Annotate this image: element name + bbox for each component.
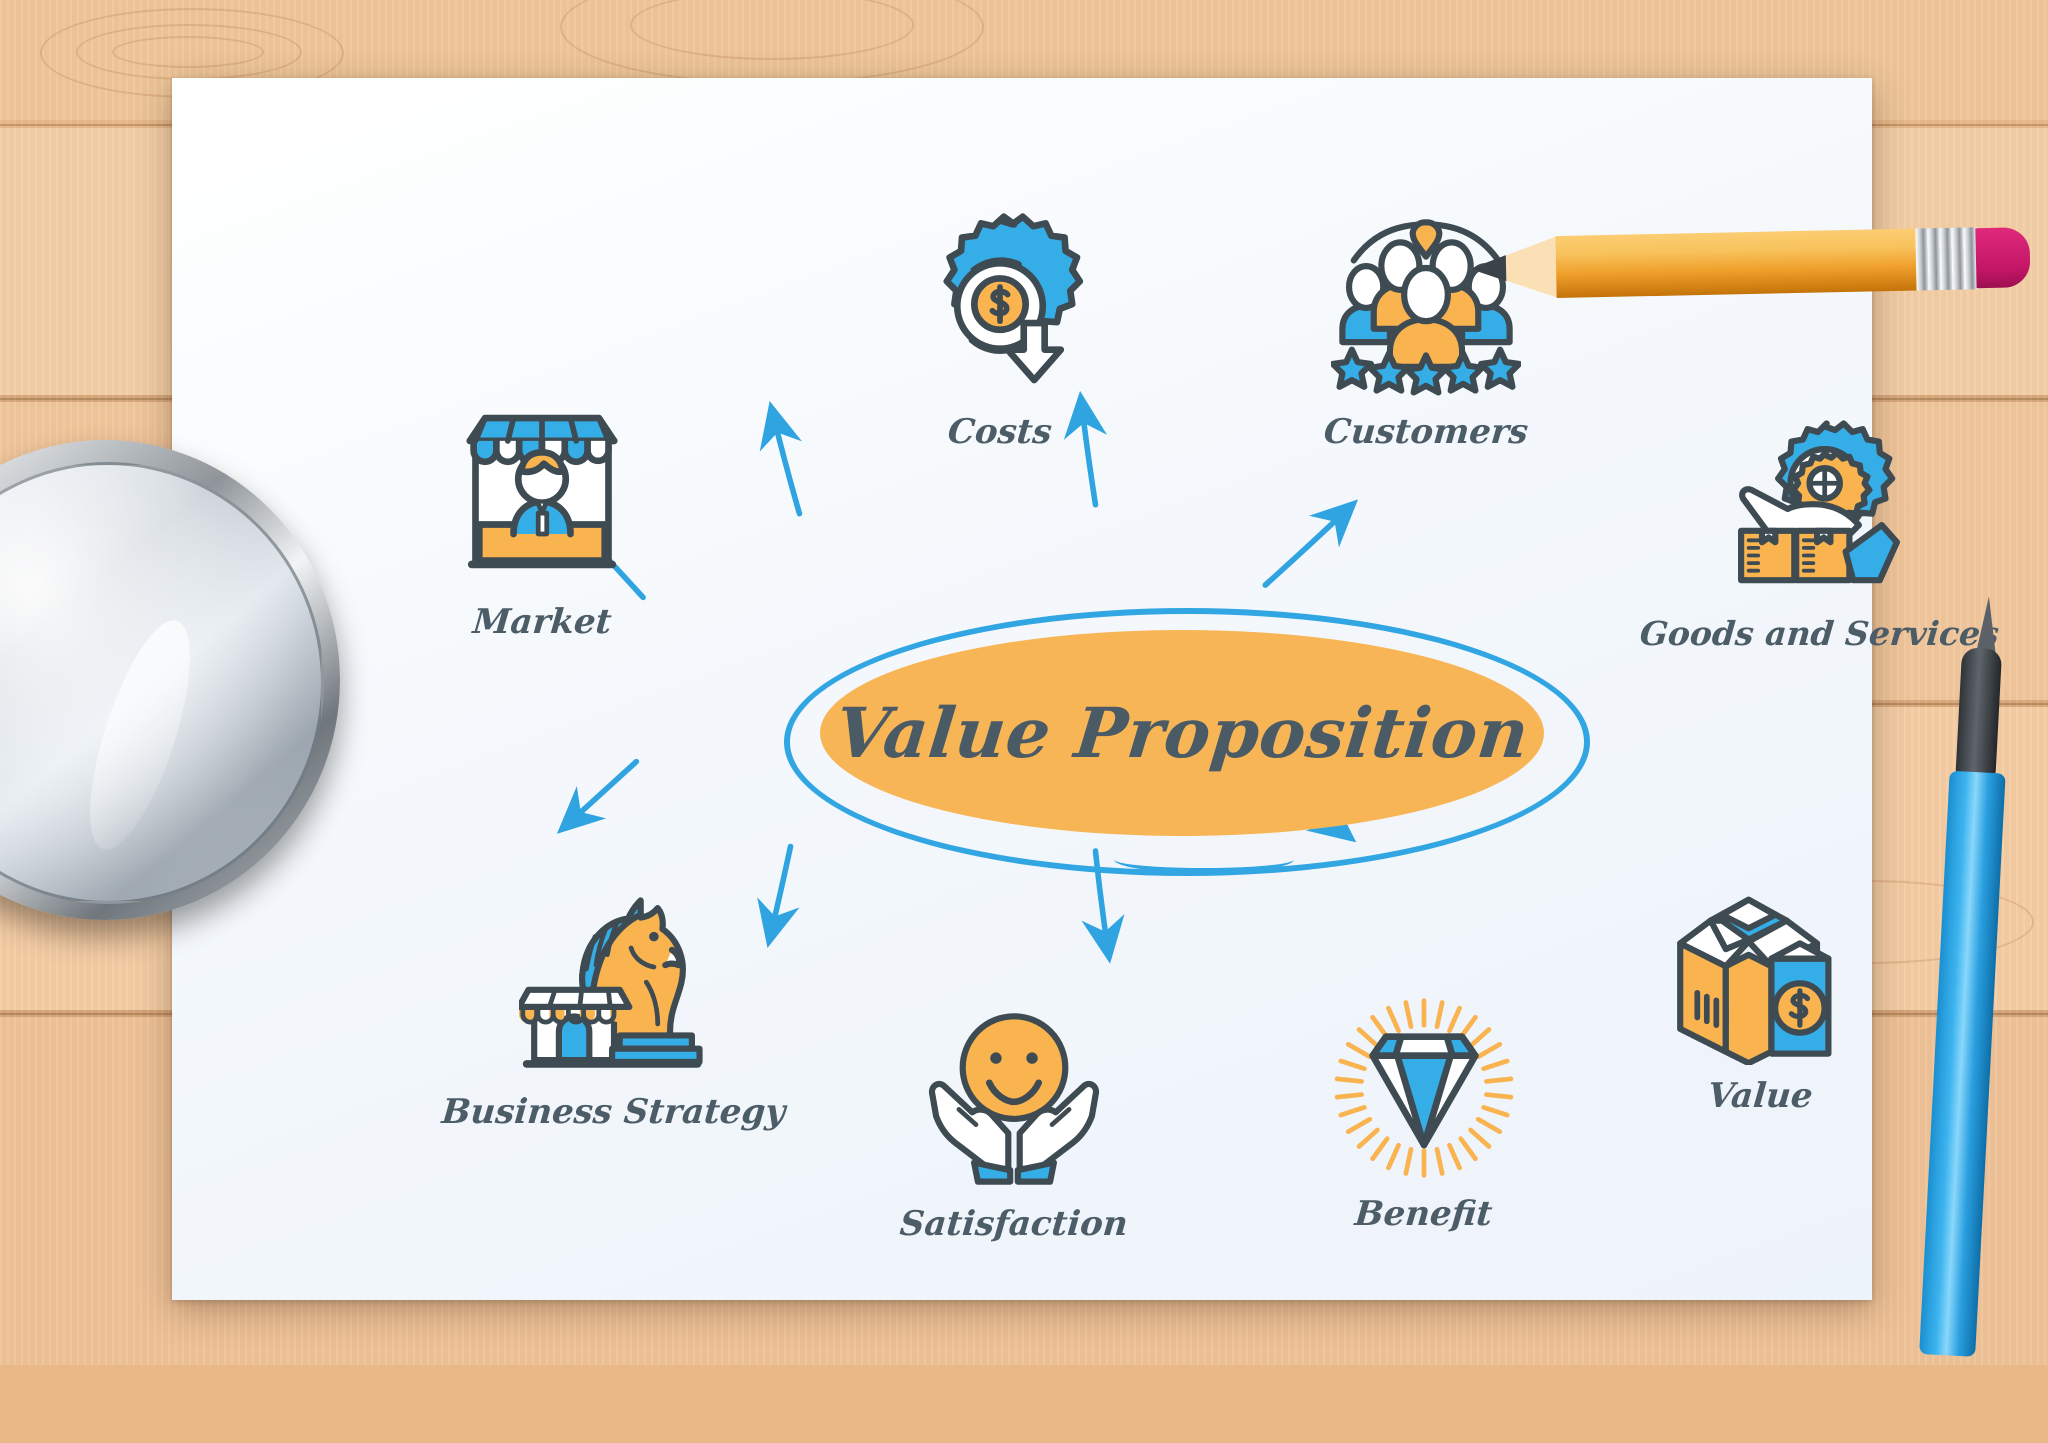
node-label-customers: Customers bbox=[1322, 412, 1529, 452]
node-label-market: Market bbox=[471, 602, 613, 642]
hand-gear-boxes-icon bbox=[1719, 408, 1919, 608]
node-label-satisfaction: Satisfaction bbox=[898, 1204, 1129, 1244]
node-label-value: Value bbox=[1706, 1076, 1814, 1116]
node-label-goods-and-services: Goods and Services bbox=[1638, 614, 2000, 653]
node-label-benefit: Benefit bbox=[1354, 1194, 1495, 1234]
ellipse-fill: Value Proposition bbox=[820, 630, 1544, 836]
chess-knight-shop-icon bbox=[514, 886, 714, 1086]
shining-diamond-icon bbox=[1324, 988, 1524, 1188]
hands-smiley-icon bbox=[914, 998, 1114, 1198]
market-stall-icon bbox=[442, 396, 642, 596]
ellipse-sketch-tail bbox=[1114, 846, 1294, 873]
pencil-lead bbox=[1470, 255, 1507, 282]
pencil-body bbox=[1555, 229, 1916, 299]
node-business-strategy[interactable]: Business Strategy bbox=[442, 886, 785, 1132]
node-label-business-strategy: Business Strategy bbox=[440, 1092, 787, 1132]
gear-dollar-down-arrow-icon bbox=[900, 206, 1100, 406]
wood-grain-ring bbox=[112, 36, 264, 68]
node-benefit[interactable]: Benefit bbox=[1324, 988, 1524, 1234]
node-costs[interactable]: Costs bbox=[900, 206, 1100, 452]
pencil-ferrule bbox=[1915, 227, 1978, 290]
node-goods-and-services[interactable]: Goods and Services bbox=[1640, 408, 1999, 653]
open-box-price-tag-icon bbox=[1660, 870, 1860, 1070]
page-title: Value Proposition bbox=[831, 693, 1532, 774]
pencil bbox=[1469, 226, 2030, 300]
pen-grip bbox=[1955, 647, 2002, 779]
node-value[interactable]: Value bbox=[1660, 870, 1860, 1116]
central-value-proposition-ellipse: Value Proposition bbox=[784, 608, 1584, 870]
pen-tip bbox=[1976, 596, 1999, 655]
magnifying-glass bbox=[0, 440, 370, 980]
pencil-eraser bbox=[1975, 227, 2030, 288]
node-label-costs: Costs bbox=[946, 412, 1053, 452]
node-satisfaction[interactable]: Satisfaction bbox=[900, 998, 1128, 1244]
node-market[interactable]: Market bbox=[442, 396, 642, 642]
people-heart-stars-icon bbox=[1326, 206, 1526, 406]
